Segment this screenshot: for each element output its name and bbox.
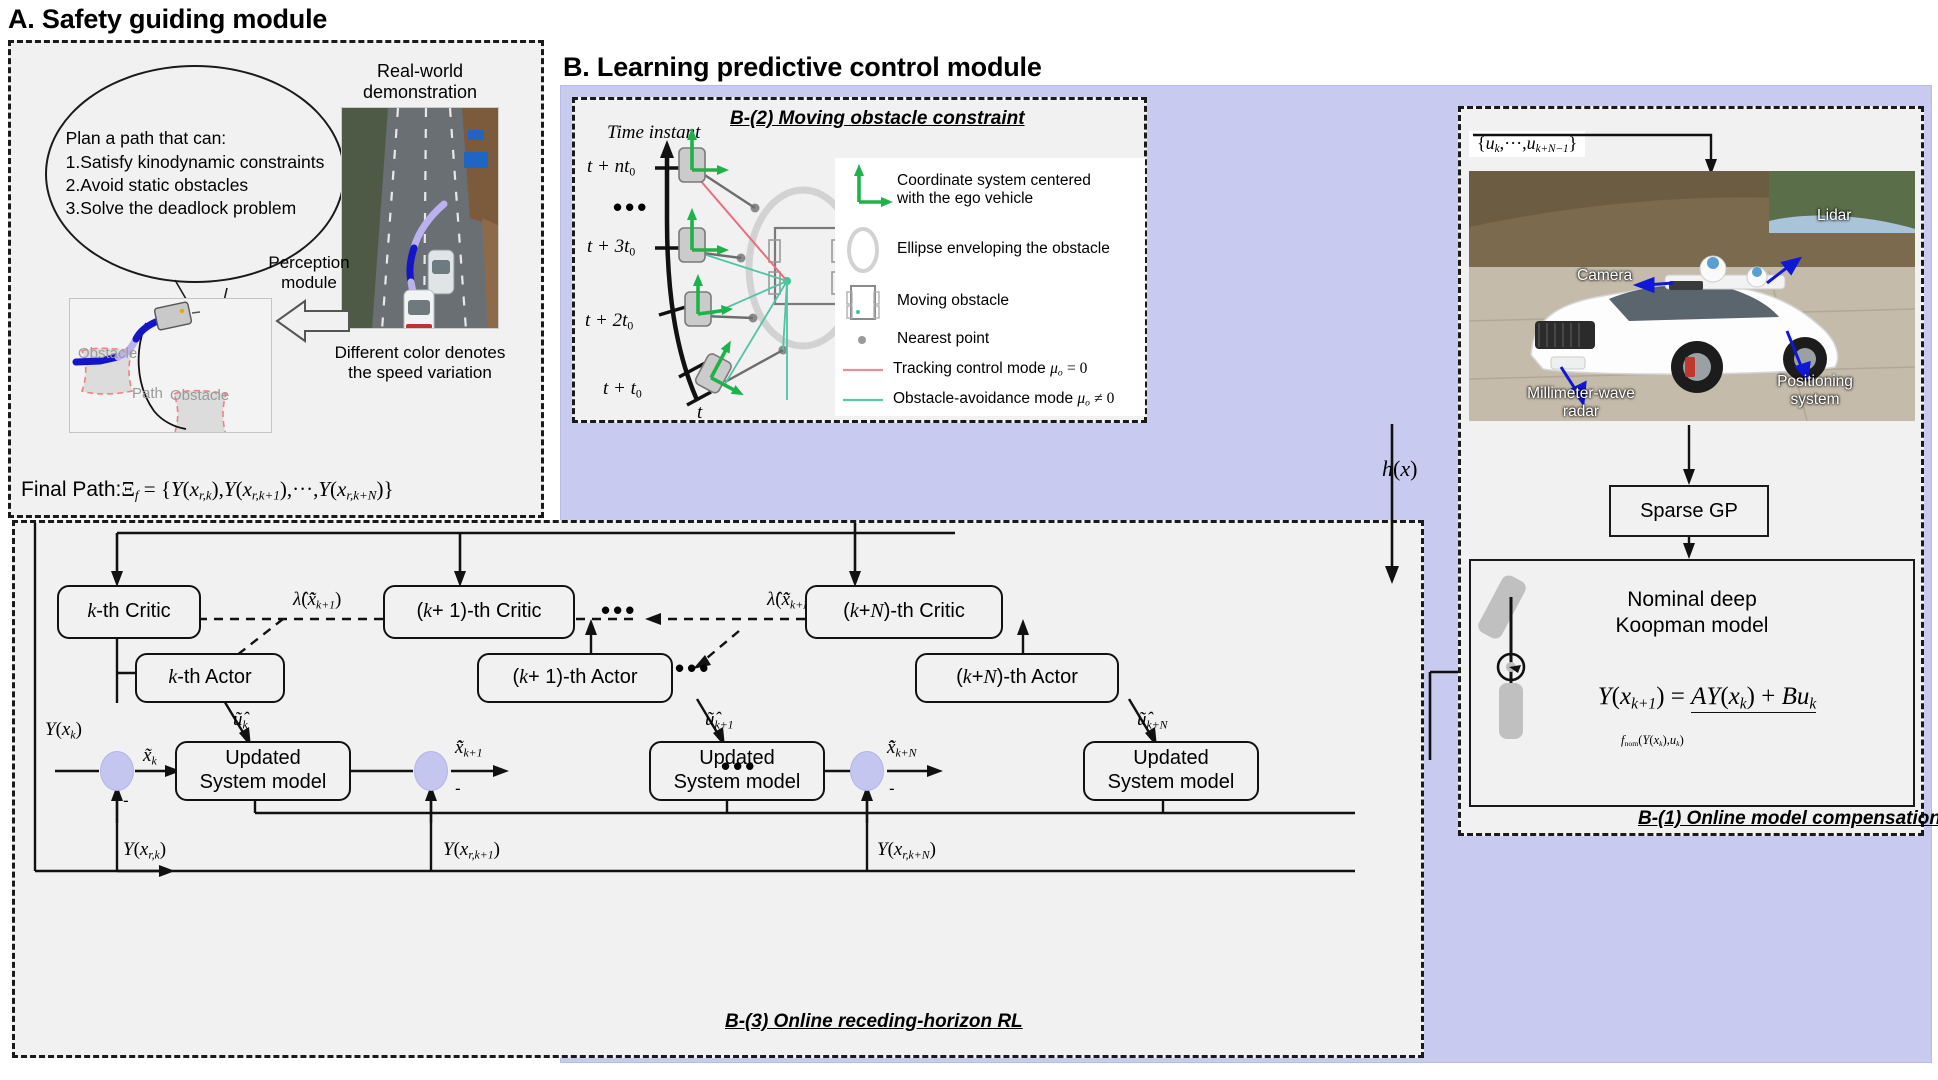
global-connectors	[0, 0, 1938, 1080]
hx-down-arrow	[1385, 566, 1399, 584]
